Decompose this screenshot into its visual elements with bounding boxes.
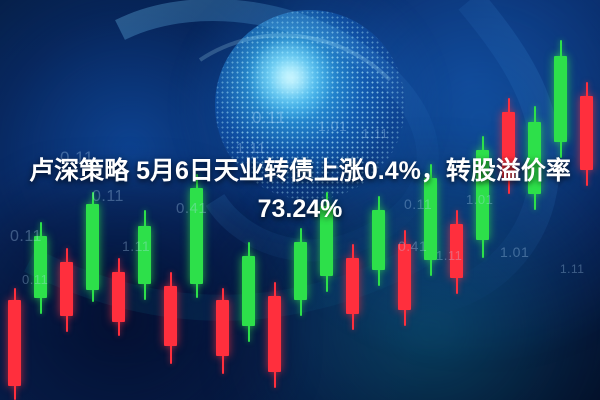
candle-body xyxy=(112,272,125,322)
ghost-number: 0.11 xyxy=(10,228,42,246)
candle-body xyxy=(242,256,255,326)
ghost-number: 0.41 xyxy=(398,238,427,254)
ghost-number: 1.11 xyxy=(122,238,150,254)
candle-body xyxy=(164,286,177,346)
banner-image: 0.111.011.110.111.110.110.410.111.010.11… xyxy=(0,0,600,400)
candle-body xyxy=(8,300,21,386)
candle-body xyxy=(138,226,151,284)
candle-body xyxy=(346,258,359,314)
ghost-number: 1.11 xyxy=(560,262,584,276)
ghost-number: 0.11 xyxy=(252,108,286,128)
ghost-number: 1.11 xyxy=(362,126,388,141)
ghost-number: 1.11 xyxy=(436,248,462,263)
candle-body xyxy=(554,56,567,142)
candle-body xyxy=(268,296,281,372)
ghost-number: 1.01 xyxy=(500,244,529,260)
ghost-number: 0.11 xyxy=(22,272,48,287)
headline-full: 卢深策略 5月6日天业转债上涨0.4%，转股溢价率73.24% xyxy=(29,157,571,223)
candle-body xyxy=(60,262,73,316)
headline-text: 卢深策略 5月6日天业转债上涨0.4%，转股溢价率73.24% xyxy=(0,152,600,228)
candle-body xyxy=(216,300,229,356)
candle-body xyxy=(294,242,307,300)
ghost-number: 1.01 xyxy=(318,118,347,134)
